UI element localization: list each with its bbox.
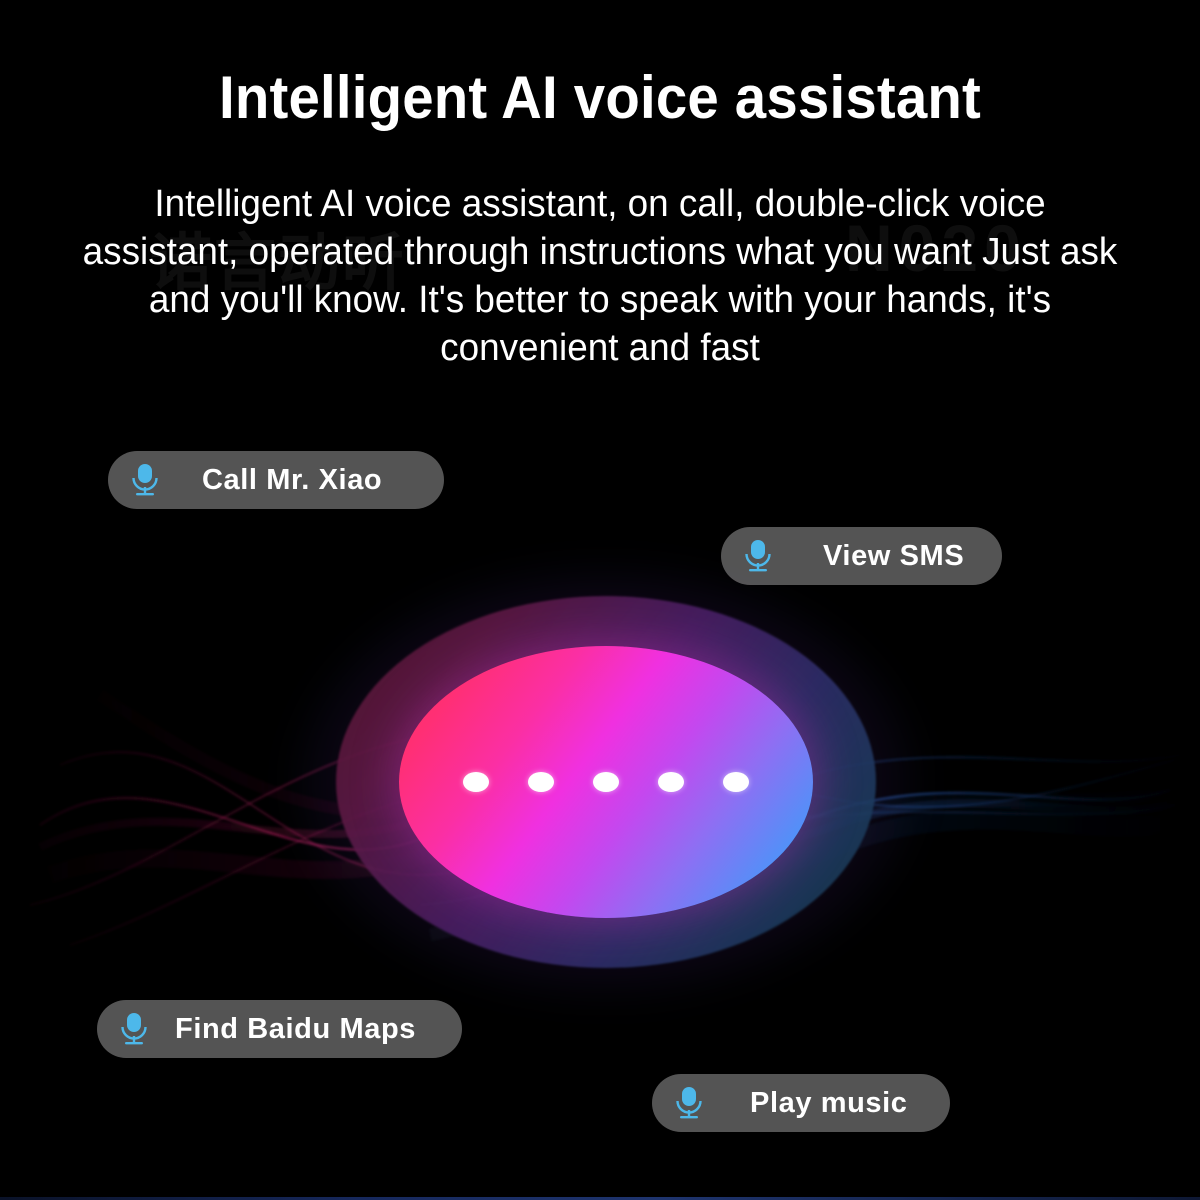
listening-dot <box>528 772 554 792</box>
voice-command-play-music[interactable]: Play music <box>652 1074 950 1132</box>
page-subtitle: Intelligent AI voice assistant, on call,… <box>76 180 1124 372</box>
microphone-icon <box>130 463 160 497</box>
listening-dot <box>463 772 489 792</box>
voice-assistant-orb[interactable] <box>336 596 876 968</box>
page-title: Intelligent AI voice assistant <box>36 63 1164 132</box>
listening-dots <box>399 646 813 918</box>
voice-command-call-mr-xiao[interactable]: Call Mr. Xiao <box>108 451 444 509</box>
microphone-icon <box>674 1086 704 1120</box>
voice-command-label: Find Baidu Maps <box>175 1013 416 1046</box>
microphone-icon <box>743 539 773 573</box>
voice-command-label: Play music <box>750 1087 908 1120</box>
voice-command-label: View SMS <box>823 540 964 573</box>
microphone-icon <box>119 1012 149 1046</box>
listening-dot <box>593 772 619 792</box>
voice-command-label: Call Mr. Xiao <box>202 464 382 497</box>
listening-dot <box>658 772 684 792</box>
voice-command-find-baidu-maps[interactable]: Find Baidu Maps <box>97 1000 462 1058</box>
orb-gradient-body[interactable] <box>399 646 813 918</box>
voice-command-view-sms[interactable]: View SMS <box>721 527 1002 585</box>
listening-dot <box>723 772 749 792</box>
voice-assistant-promo-page: 诺言动听 N020 Intelligent AI voice assistant… <box>0 0 1200 1200</box>
